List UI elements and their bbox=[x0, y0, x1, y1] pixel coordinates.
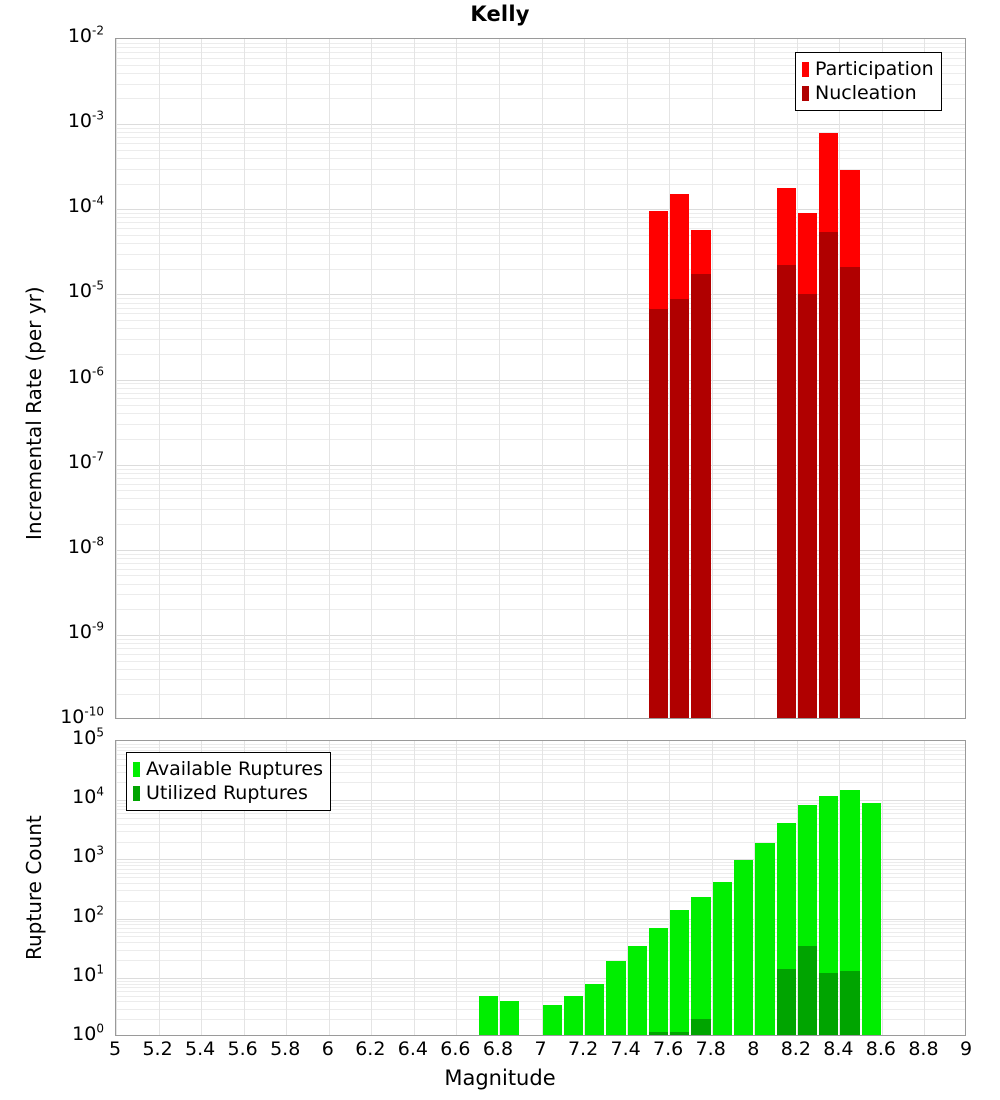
bottom-legend: Available Ruptures Utilized Ruptures bbox=[126, 752, 331, 811]
legend-label-nucleation: Nucleation bbox=[815, 84, 917, 103]
bar-available-ruptures bbox=[564, 996, 583, 1036]
legend-label-participation: Participation bbox=[815, 60, 934, 79]
y-tick-label: 10-6 bbox=[0, 366, 104, 388]
bar-available-ruptures bbox=[734, 860, 753, 1036]
x-tick-label: 7 bbox=[534, 1038, 546, 1060]
y-tick-label: 10-5 bbox=[0, 280, 104, 302]
legend-swatch-utilized-ruptures bbox=[133, 786, 140, 801]
y-tick-label: 10-8 bbox=[0, 536, 104, 558]
bar-utilized-ruptures bbox=[798, 946, 817, 1036]
bar-utilized-ruptures bbox=[777, 969, 796, 1036]
incremental-rate-plot bbox=[115, 38, 966, 719]
legend-item-utilized-ruptures: Utilized Ruptures bbox=[133, 781, 323, 805]
y-tick-label: 10-2 bbox=[0, 25, 104, 47]
x-axis-label: Magnitude bbox=[0, 1066, 1000, 1090]
x-tick-label: 7.6 bbox=[653, 1038, 683, 1060]
bar-nucleation bbox=[649, 309, 668, 719]
x-tick-label: 6.8 bbox=[483, 1038, 513, 1060]
y-tick-label: 103 bbox=[0, 845, 104, 867]
bar-available-ruptures bbox=[649, 928, 668, 1036]
bar-available-ruptures bbox=[691, 897, 710, 1036]
bar-utilized-ruptures bbox=[670, 1032, 689, 1036]
bar-nucleation bbox=[798, 294, 817, 719]
x-tick-label: 7.2 bbox=[568, 1038, 598, 1060]
y-tick-label: 10-7 bbox=[0, 451, 104, 473]
x-tick-label: 6.4 bbox=[398, 1038, 428, 1060]
y-tick-label: 101 bbox=[0, 964, 104, 986]
bar-available-ruptures bbox=[755, 843, 774, 1036]
x-tick-label: 7.4 bbox=[610, 1038, 640, 1060]
bar-nucleation bbox=[777, 265, 796, 719]
legend-swatch-nucleation bbox=[802, 86, 809, 101]
bar-available-ruptures bbox=[543, 1005, 562, 1036]
bar-available-ruptures bbox=[479, 996, 498, 1036]
bar-available-ruptures bbox=[606, 961, 625, 1036]
x-tick-label: 8 bbox=[747, 1038, 759, 1060]
x-tick-label: 5.8 bbox=[270, 1038, 300, 1060]
x-tick-label: 8.6 bbox=[866, 1038, 896, 1060]
y-tick-label: 10-3 bbox=[0, 110, 104, 132]
x-tick-label: 5 bbox=[109, 1038, 121, 1060]
top-legend: Participation Nucleation bbox=[795, 52, 942, 111]
x-tick-label: 6 bbox=[322, 1038, 334, 1060]
bar-utilized-ruptures bbox=[649, 1032, 668, 1036]
y-tick-label: 10-10 bbox=[0, 706, 104, 728]
bar-utilized-ruptures bbox=[691, 1019, 710, 1036]
page-title: Kelly bbox=[0, 2, 1000, 26]
y-tick-label: 10-9 bbox=[0, 621, 104, 643]
bar-nucleation bbox=[691, 274, 710, 719]
bar-nucleation bbox=[670, 299, 689, 719]
bar-utilized-ruptures bbox=[819, 973, 838, 1036]
legend-item-nucleation: Nucleation bbox=[802, 81, 934, 105]
x-tick-label: 6.6 bbox=[440, 1038, 470, 1060]
x-tick-label: 7.8 bbox=[696, 1038, 726, 1060]
x-tick-label: 5.4 bbox=[185, 1038, 215, 1060]
y-tick-label: 104 bbox=[0, 786, 104, 808]
y-tick-label: 105 bbox=[0, 727, 104, 749]
bar-available-ruptures bbox=[500, 1001, 519, 1036]
bar-available-ruptures bbox=[862, 803, 881, 1036]
y-tick-label: 10-4 bbox=[0, 195, 104, 217]
x-tick-label: 9 bbox=[960, 1038, 972, 1060]
bar-nucleation bbox=[819, 232, 838, 719]
top-bars bbox=[116, 39, 965, 718]
x-tick-label: 6.2 bbox=[355, 1038, 385, 1060]
x-tick-label: 5.6 bbox=[228, 1038, 258, 1060]
x-tick-label: 8.8 bbox=[908, 1038, 938, 1060]
bar-available-ruptures bbox=[713, 882, 732, 1036]
bar-available-ruptures bbox=[628, 946, 647, 1036]
bottom-y-axis-label: Rupture Count bbox=[22, 815, 46, 960]
bar-utilized-ruptures bbox=[840, 971, 859, 1036]
legend-label-available-ruptures: Available Ruptures bbox=[146, 760, 323, 779]
bar-nucleation bbox=[840, 267, 859, 719]
bar-available-ruptures bbox=[670, 910, 689, 1036]
legend-item-participation: Participation bbox=[802, 57, 934, 81]
legend-label-utilized-ruptures: Utilized Ruptures bbox=[146, 784, 308, 803]
chart-page: Kelly 10-210-310-410-510-610-710-810-910… bbox=[0, 0, 1000, 1100]
top-y-axis-label: Incremental Rate (per yr) bbox=[22, 286, 46, 540]
legend-swatch-participation bbox=[802, 62, 809, 77]
legend-swatch-available-ruptures bbox=[133, 762, 140, 777]
x-tick-label: 8.4 bbox=[823, 1038, 853, 1060]
x-tick-label: 5.2 bbox=[142, 1038, 172, 1060]
y-tick-label: 100 bbox=[0, 1023, 104, 1045]
bar-available-ruptures bbox=[585, 984, 604, 1036]
x-tick-labels: 55.25.45.65.866.26.46.66.877.27.47.67.88… bbox=[115, 1038, 966, 1064]
x-tick-label: 8.2 bbox=[781, 1038, 811, 1060]
legend-item-available-ruptures: Available Ruptures bbox=[133, 757, 323, 781]
y-tick-label: 102 bbox=[0, 905, 104, 927]
